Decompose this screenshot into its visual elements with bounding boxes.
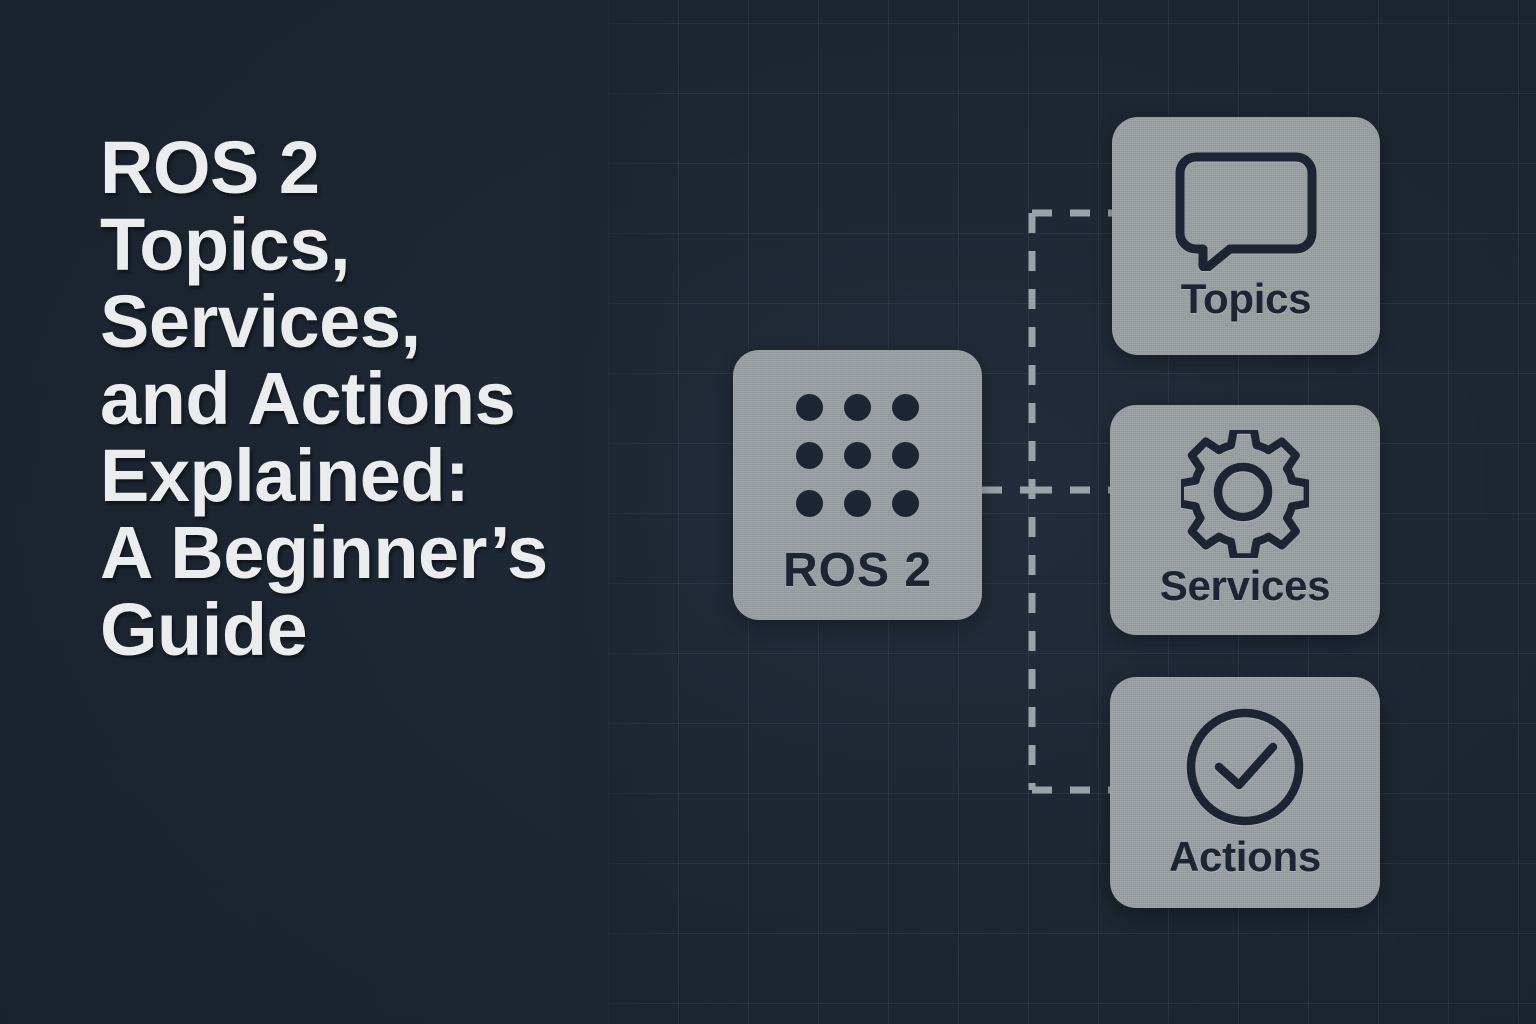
ros2-node-label: ROS 2 bbox=[783, 543, 932, 598]
node-dot bbox=[796, 490, 823, 517]
gear-icon bbox=[1181, 430, 1309, 558]
node-dot bbox=[796, 394, 823, 421]
check-circle-icon bbox=[1183, 705, 1307, 829]
node-dot bbox=[796, 442, 823, 469]
node-dot bbox=[844, 490, 871, 517]
card-services[interactable]: Services bbox=[1110, 405, 1380, 635]
speech-bubble-icon bbox=[1172, 149, 1320, 271]
card-services-label: Services bbox=[1160, 562, 1330, 610]
node-dot bbox=[892, 394, 919, 421]
node-dot bbox=[892, 490, 919, 517]
node-dot bbox=[844, 394, 871, 421]
poster-canvas: ROS 2 Topics, Services, and Actions Expl… bbox=[0, 0, 1536, 1024]
page-title: ROS 2 Topics, Services, and Actions Expl… bbox=[100, 130, 660, 669]
ros2-node-box[interactable]: ROS 2 bbox=[733, 350, 982, 620]
card-topics-label: Topics bbox=[1181, 275, 1311, 323]
node-dot-grid-icon bbox=[796, 394, 919, 517]
card-actions-label: Actions bbox=[1169, 833, 1321, 881]
card-actions[interactable]: Actions bbox=[1110, 677, 1380, 908]
card-topics[interactable]: Topics bbox=[1112, 117, 1380, 355]
node-dot bbox=[892, 442, 919, 469]
node-dot bbox=[844, 442, 871, 469]
